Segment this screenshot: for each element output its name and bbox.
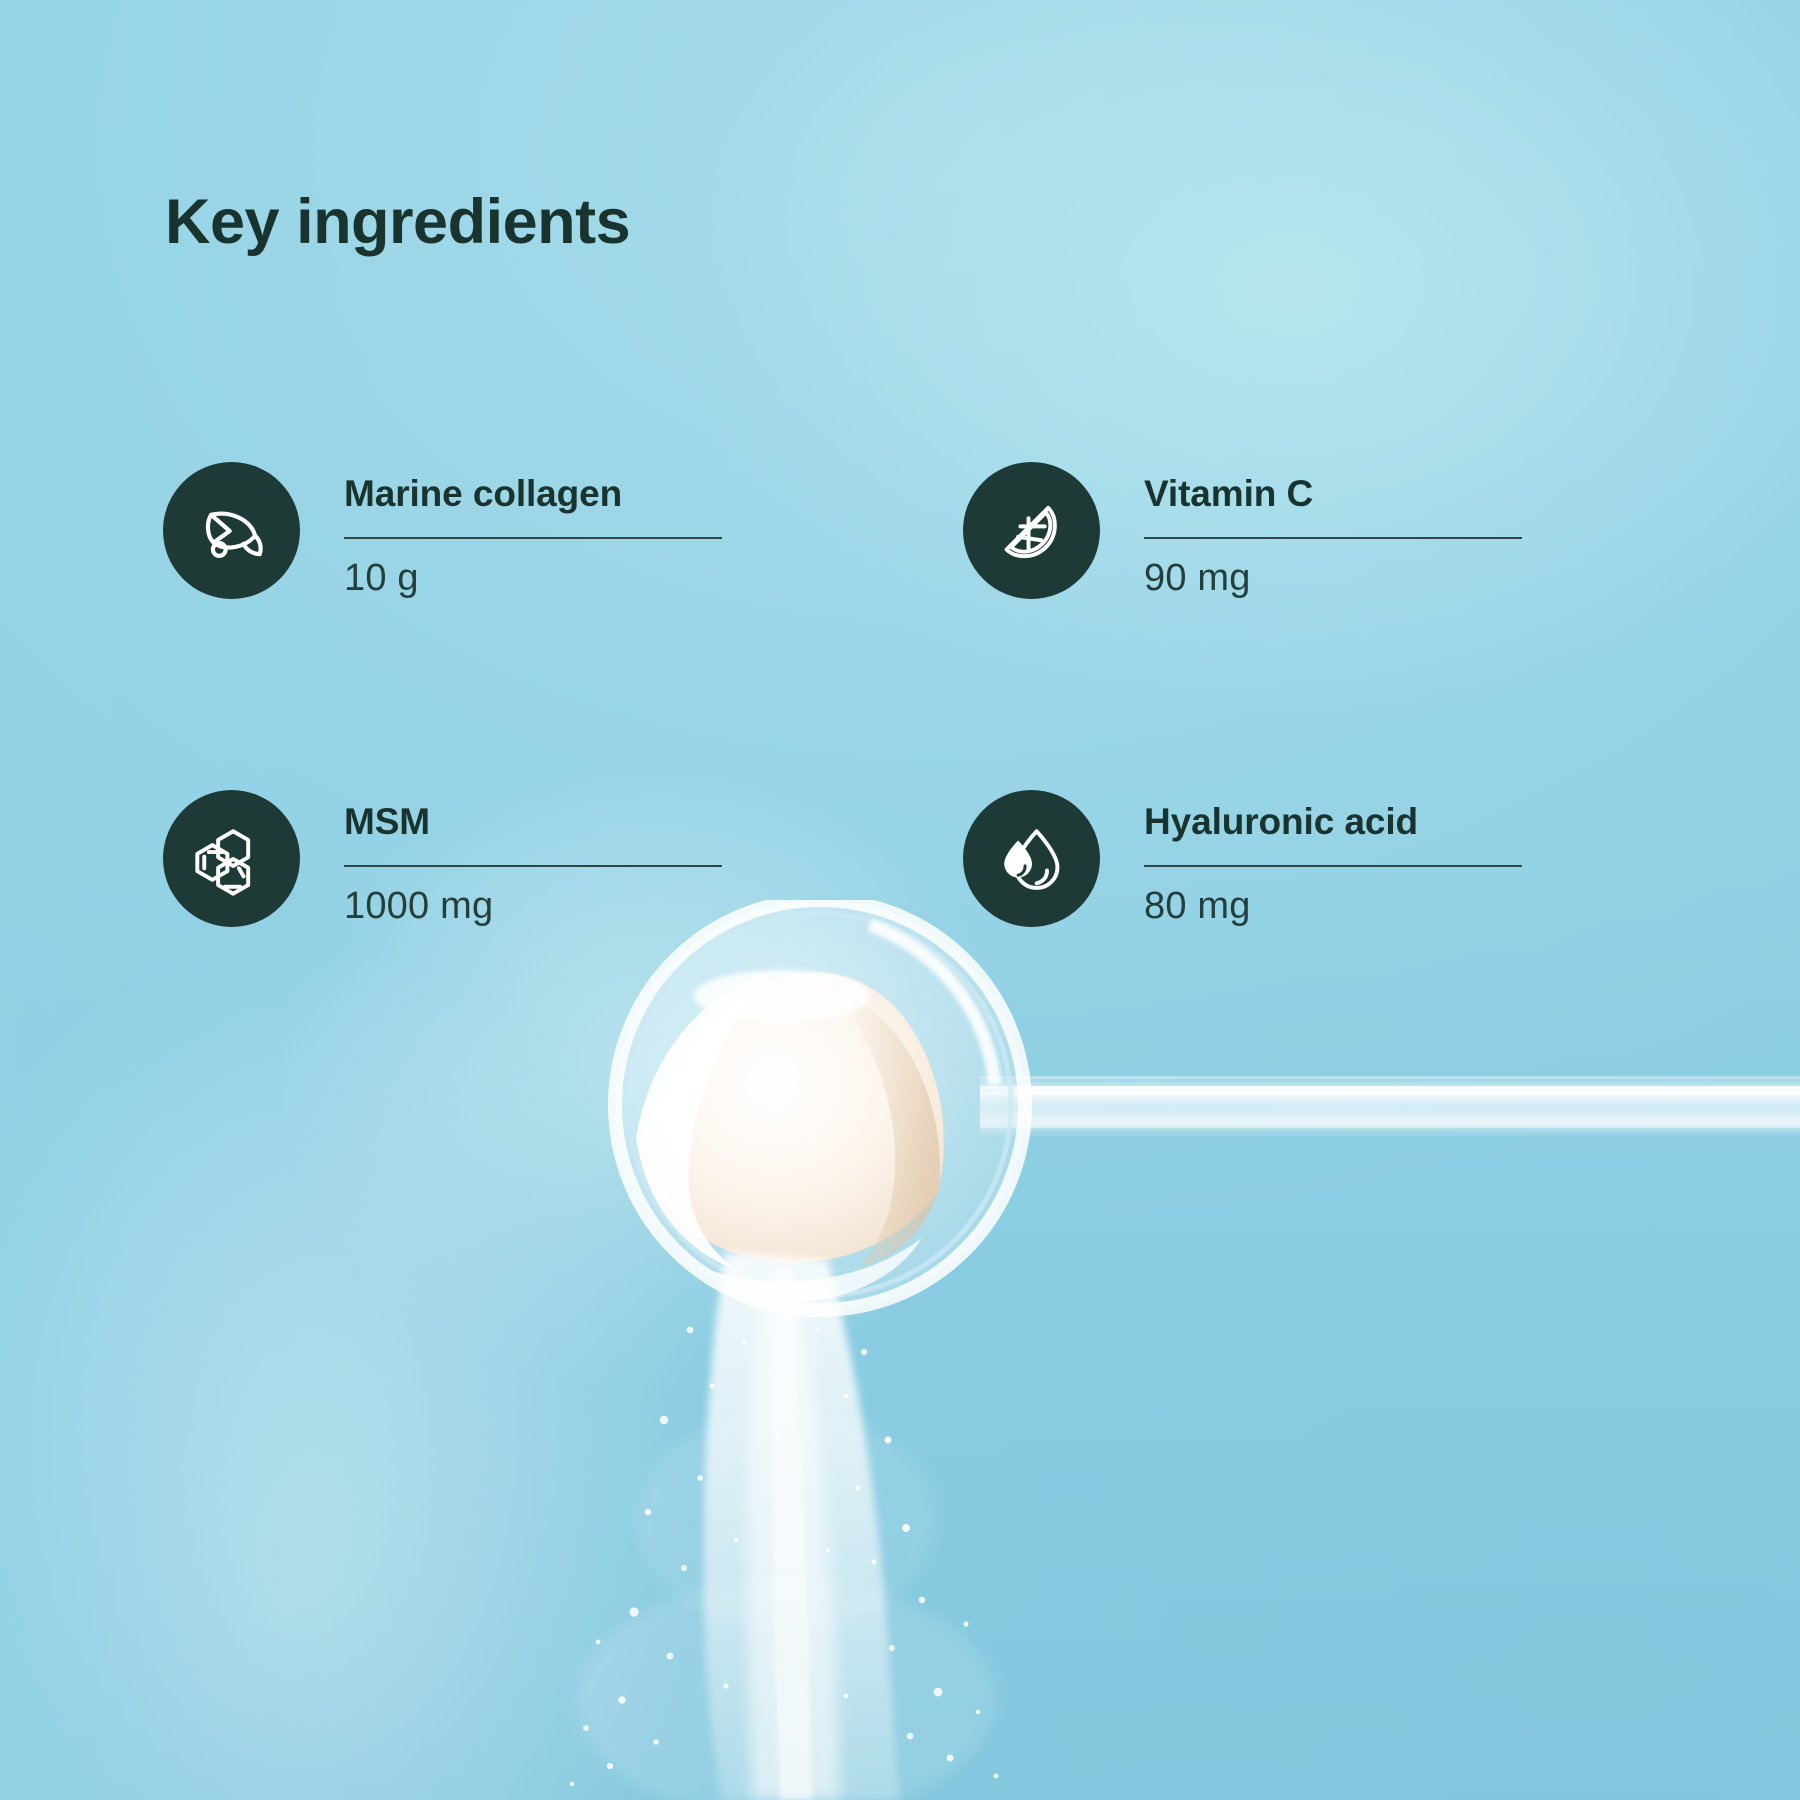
- ingredient-divider: [1144, 865, 1522, 867]
- ingredient-amount: 90 mg: [1144, 558, 1522, 600]
- ingredient-amount: 1000 mg: [344, 886, 722, 928]
- ingredient-text-block: Vitamin C 90 mg: [1144, 462, 1522, 599]
- ingredient-text-block: MSM 1000 mg: [344, 790, 722, 927]
- product-photo: [0, 900, 1800, 1800]
- ingredient-text-block: Hyaluronic acid 80 mg: [1144, 790, 1522, 927]
- ingredient-item-msm: MSM 1000 mg: [163, 790, 722, 927]
- ingredient-name: MSM: [344, 802, 722, 843]
- molecule-hexagons-icon: [163, 790, 300, 927]
- ingredient-name: Marine collagen: [344, 474, 722, 515]
- ingredient-item-marine-collagen: Marine collagen 10 g: [163, 462, 722, 599]
- ingredient-item-vitamin-c: Vitamin C 90 mg: [963, 462, 1522, 599]
- ingredient-divider: [344, 537, 722, 539]
- ingredient-name: Vitamin C: [1144, 474, 1522, 515]
- ingredient-amount: 10 g: [344, 558, 722, 600]
- ingredient-name: Hyaluronic acid: [1144, 802, 1522, 843]
- water-droplet-icon: [963, 790, 1100, 927]
- ingredient-amount: 80 mg: [1144, 886, 1522, 928]
- fish-icon: [163, 462, 300, 599]
- citrus-slice-icon: [963, 462, 1100, 599]
- ingredient-item-hyaluronic-acid: Hyaluronic acid 80 mg: [963, 790, 1522, 927]
- powder-stream: [570, 1252, 999, 1800]
- ingredient-divider: [344, 865, 722, 867]
- scoop-bowl: [615, 900, 1025, 1310]
- ingredient-divider: [1144, 537, 1522, 539]
- page-title: Key ingredients: [165, 189, 630, 255]
- scoop-handle: [980, 1076, 1800, 1136]
- ingredient-text-block: Marine collagen 10 g: [344, 462, 722, 599]
- key-ingredients-panel: Key ingredients Marine collagen 10 g: [0, 0, 1800, 1800]
